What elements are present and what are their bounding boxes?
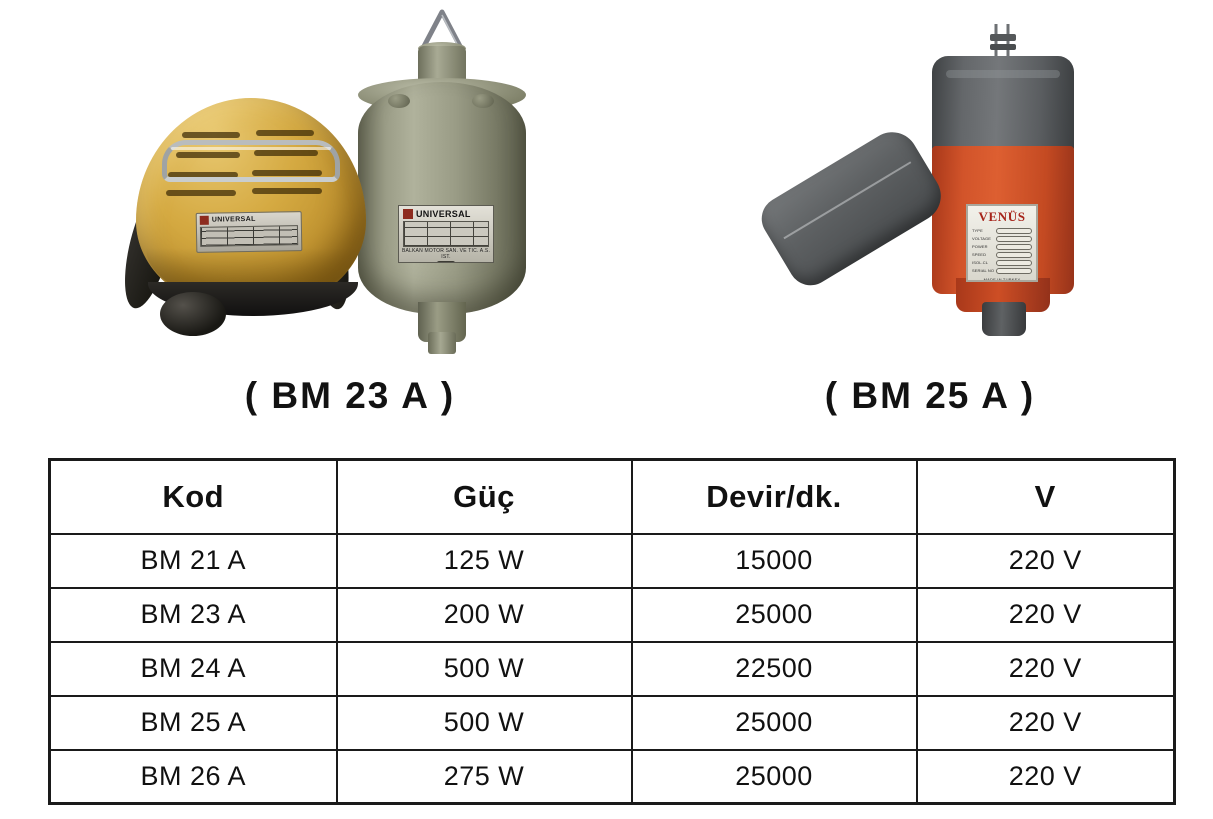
cell-kod: BM 24 A (50, 642, 337, 696)
motor-cover-wedge (754, 123, 951, 294)
cell-v: 220 V (917, 534, 1175, 588)
venus-spec-value (996, 236, 1032, 242)
column-header-kod: Kod (50, 460, 337, 534)
nameplate-footer-text: BALKAN MOTOR SAN. VE TIC. A.S. IST. (399, 248, 493, 260)
venus-spec-value (996, 244, 1032, 250)
cell-devir: 25000 (632, 588, 917, 642)
cell-kod: BM 25 A (50, 696, 337, 750)
cell-kod: BM 21 A (50, 534, 337, 588)
product-image-bm23a: UNIVERSAL BALKAN MOTOR SAN. VE TIC. A.S.… (120, 20, 580, 375)
product-image-bm25a: VENÜS TYPE VOLTAGE POWER SP (760, 20, 1100, 375)
motor-outlet-icon (982, 302, 1026, 336)
cell-devir: 22500 (632, 642, 917, 696)
cell-v: 220 V (917, 696, 1175, 750)
venus-spec-value (996, 252, 1032, 258)
column-header-guc: Güç (337, 460, 632, 534)
cell-v: 220 V (917, 642, 1175, 696)
column-header-devir: Devir/dk. (632, 460, 917, 534)
cover-nameplate: UNIVERSAL (196, 211, 303, 253)
cell-kod: BM 26 A (50, 750, 337, 804)
product-spec-page: UNIVERSAL BALKAN MOTOR SAN. VE TIC. A.S.… (0, 0, 1213, 819)
venus-spec-row: POWER (972, 243, 1032, 251)
table-header-row: Kod Güç Devir/dk. V (50, 460, 1175, 534)
table-row: BM 21 A 125 W 15000 220 V (50, 534, 1175, 588)
venus-spec-value (996, 228, 1032, 234)
venus-nameplate: VENÜS TYPE VOLTAGE POWER SP (966, 204, 1038, 282)
mount-knob-icon (160, 292, 226, 336)
cell-devir: 25000 (632, 750, 917, 804)
carry-handle-icon (162, 140, 340, 182)
venus-spec-value (996, 260, 1032, 266)
venus-brand-label: VENÜS (972, 210, 1032, 224)
motor-body-olive (358, 82, 526, 314)
cover-brand-label: UNIVERSAL (212, 216, 256, 224)
brush-cap-right-icon (472, 94, 494, 108)
venus-label-footer: MADE IN TURKEY (972, 277, 1032, 282)
vent-slot-icon (182, 132, 240, 138)
motor-shell-gray (932, 56, 1074, 152)
cell-v: 220 V (917, 750, 1175, 804)
table-row: BM 26 A 275 W 25000 220 V (50, 750, 1175, 804)
vent-slot-icon (166, 190, 236, 196)
product-photo-row: UNIVERSAL BALKAN MOTOR SAN. VE TIC. A.S.… (0, 0, 1213, 440)
motor-brand-label: UNIVERSAL (416, 209, 471, 219)
venus-spec-row: VOLTAGE (972, 235, 1032, 243)
cell-guc: 500 W (337, 642, 632, 696)
venus-spec-value (996, 268, 1032, 274)
motor-nameplate: UNIVERSAL BALKAN MOTOR SAN. VE TIC. A.S.… (398, 205, 494, 263)
universal-logo-icon (200, 216, 209, 225)
cell-guc: 200 W (337, 588, 632, 642)
cell-guc: 275 W (337, 750, 632, 804)
cover-spec-grid (200, 225, 298, 247)
nameplate-spec-grid (403, 221, 489, 247)
table-row: BM 25 A 500 W 25000 220 V (50, 696, 1175, 750)
cell-devir: 15000 (632, 534, 917, 588)
cell-guc: 500 W (337, 696, 632, 750)
nameplate-seal-icon (437, 261, 455, 263)
table-row: BM 23 A 200 W 25000 220 V (50, 588, 1175, 642)
vent-slot-icon (256, 130, 314, 136)
cell-v: 220 V (917, 588, 1175, 642)
specification-table: Kod Güç Devir/dk. V BM 21 A 125 W 15000 … (48, 458, 1176, 805)
product-caption-bm23a: ( BM 23 A ) (120, 375, 580, 417)
product-caption-bm25a: ( BM 25 A ) (760, 375, 1100, 417)
cell-kod: BM 23 A (50, 588, 337, 642)
universal-logo-icon (403, 209, 413, 219)
brush-cap-left-icon (388, 94, 410, 108)
venus-spec-row: SPEED (972, 251, 1032, 259)
venus-spec-row: SERIAL NO (972, 267, 1032, 275)
venus-spec-row: ISOL.CL (972, 259, 1032, 267)
table-row: BM 24 A 500 W 22500 220 V (50, 642, 1175, 696)
vent-slot-icon (252, 188, 322, 194)
cell-devir: 25000 (632, 696, 917, 750)
venus-spec-row: TYPE (972, 227, 1032, 235)
column-header-v: V (917, 460, 1175, 534)
venus-spec-rows: TYPE VOLTAGE POWER SPEED (972, 227, 1032, 275)
motor-shaft-nut-icon (428, 332, 456, 354)
cell-guc: 125 W (337, 534, 632, 588)
